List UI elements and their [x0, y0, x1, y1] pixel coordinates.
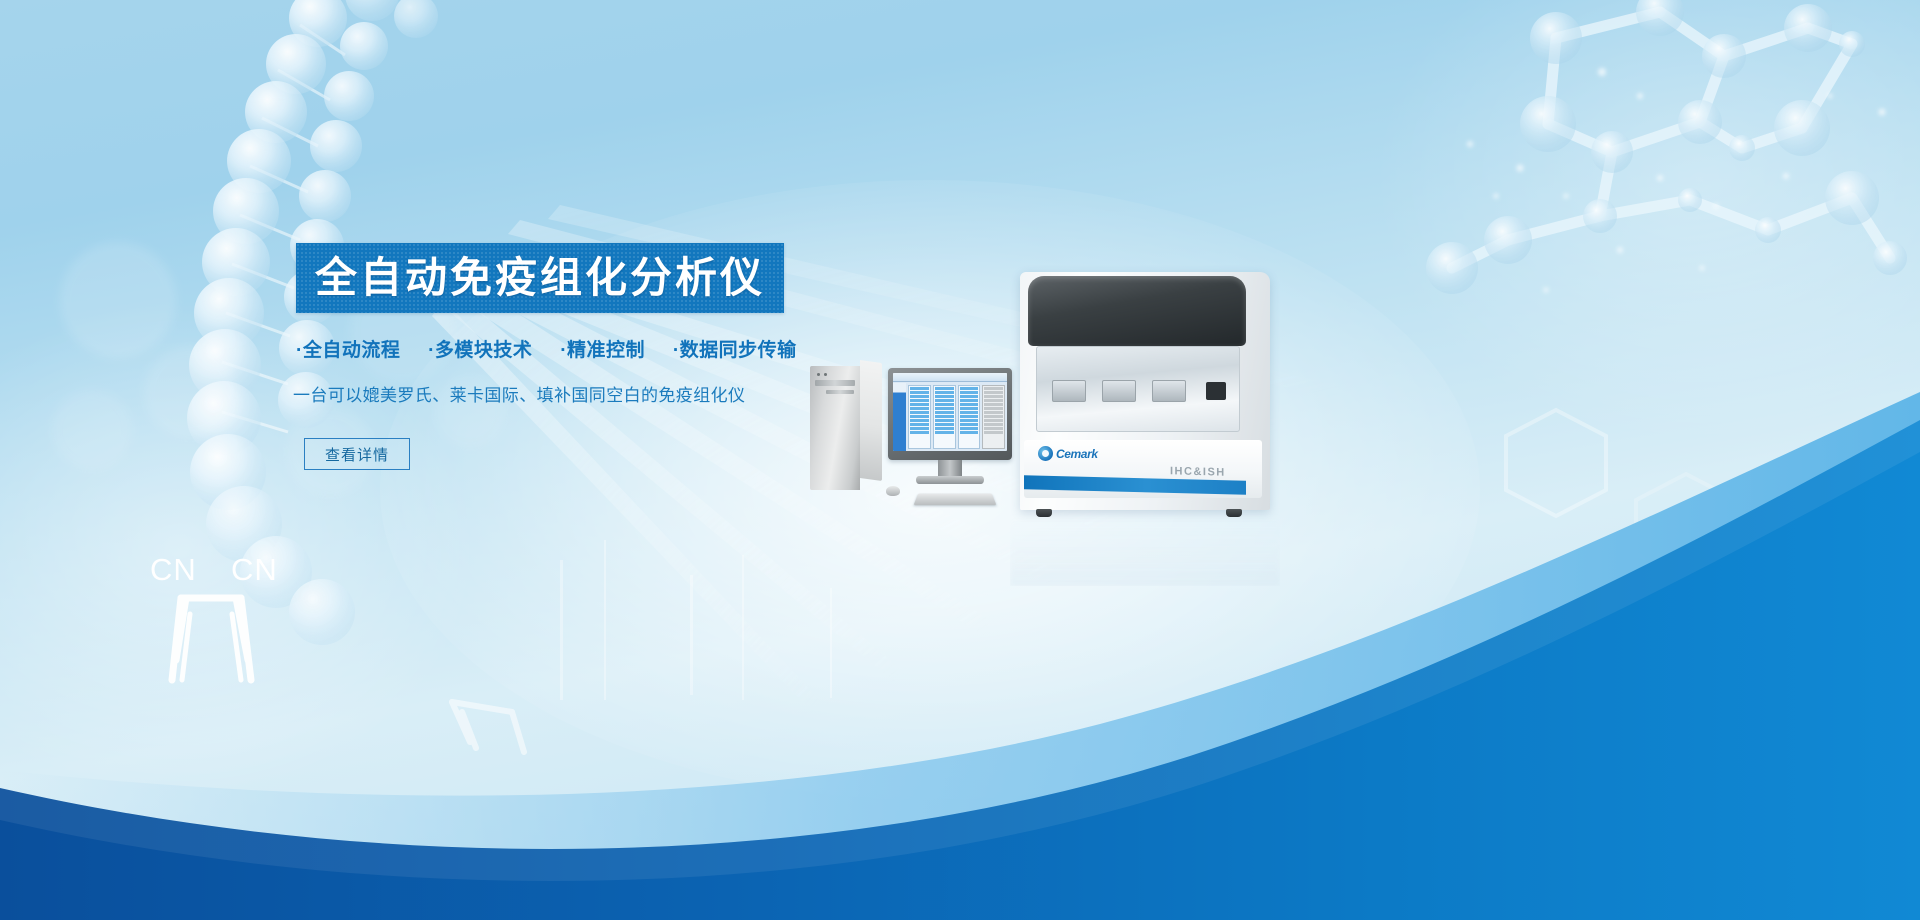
feature-item-1: ·多模块技术	[428, 340, 532, 361]
feature-item-0: ·全自动流程	[296, 340, 400, 361]
banner-content: 全自动免疫组化分析仪 ·全自动流程 ·多模块技术 ·精准控制 ·数据同步传输 一…	[0, 0, 1920, 920]
feature-item-3: ·数据同步传输	[673, 340, 797, 361]
view-details-button[interactable]: 查看详情	[304, 438, 410, 470]
feature-list: ·全自动流程 ·多模块技术 ·精准控制 ·数据同步传输	[296, 335, 996, 362]
hero-banner: CN CN	[0, 0, 1920, 920]
page-title: 全自动免疫组化分析仪	[315, 257, 765, 299]
banner-description: 一台可以媲美罗氏、莱卡国际、填补国同空白的免疫组化仪	[293, 381, 1053, 406]
feature-item-2: ·精准控制	[560, 340, 645, 361]
banner-title-plate: 全自动免疫组化分析仪	[296, 243, 784, 313]
